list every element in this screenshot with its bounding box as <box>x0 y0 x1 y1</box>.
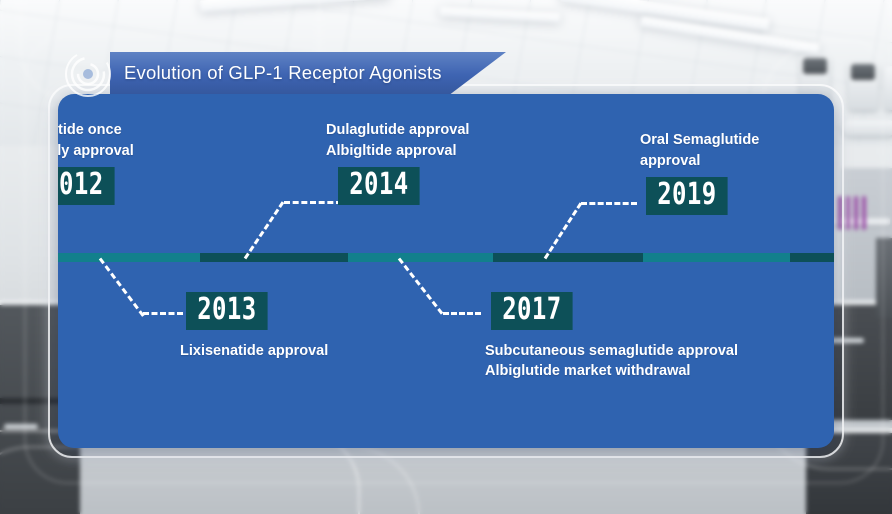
timeline-segment <box>58 253 200 262</box>
event-2014: Dulaglutide approval Albigltide approval… <box>326 120 469 205</box>
event-2017-label-0: Subcutaneous semaglutide approval <box>485 341 738 362</box>
event-2012-label-1: eekly approval <box>58 141 135 162</box>
header: Evolution of GLP-1 Receptor Agonists <box>58 52 506 94</box>
event-2019: Oral Semaglutide approval 2019 <box>640 130 759 215</box>
timeline-segment <box>200 253 348 262</box>
timeline-segment <box>643 253 790 262</box>
event-2013-label-0: Lixisenatide approval <box>180 341 328 362</box>
event-2012-year: 2012 <box>58 167 115 205</box>
connector-2013 <box>99 258 145 317</box>
event-2014-label-1: Albigltide approval <box>326 141 469 162</box>
timeline-panel: enatide once eekly approval 2012 Dulaglu… <box>58 94 834 448</box>
event-2013: 2013 Lixisenatide approval <box>186 292 328 361</box>
connector-2019-h <box>581 202 637 205</box>
event-2019-year: 2019 <box>646 177 728 215</box>
event-2012: enatide once eekly approval 2012 <box>58 120 135 205</box>
event-2017: 2017 Subcutaneous semaglutide approval A… <box>485 292 738 382</box>
page-title: Evolution of GLP-1 Receptor Agonists <box>124 52 442 94</box>
connector-2013-h <box>143 312 183 315</box>
concentric-rings-icon <box>60 48 116 100</box>
event-2019-label-1: approval <box>640 151 759 172</box>
connector-2017-h <box>443 312 481 315</box>
timeline-bar <box>58 253 834 262</box>
connector-2019 <box>544 202 582 259</box>
connector-2017 <box>398 258 443 315</box>
event-2017-label-1: Albiglutide market withdrawal <box>485 361 738 382</box>
event-2014-year: 2014 <box>338 167 420 205</box>
connector-2014 <box>244 201 285 259</box>
event-2013-year: 2013 <box>186 292 268 330</box>
event-2012-label-0: enatide once <box>58 120 135 141</box>
event-2019-label-0: Oral Semaglutide <box>640 130 759 151</box>
timeline-segment <box>493 253 643 262</box>
event-2017-year: 2017 <box>491 292 573 330</box>
event-2014-label-0: Dulaglutide approval <box>326 120 469 141</box>
timeline-segment <box>348 253 493 262</box>
timeline-segment <box>790 253 834 262</box>
